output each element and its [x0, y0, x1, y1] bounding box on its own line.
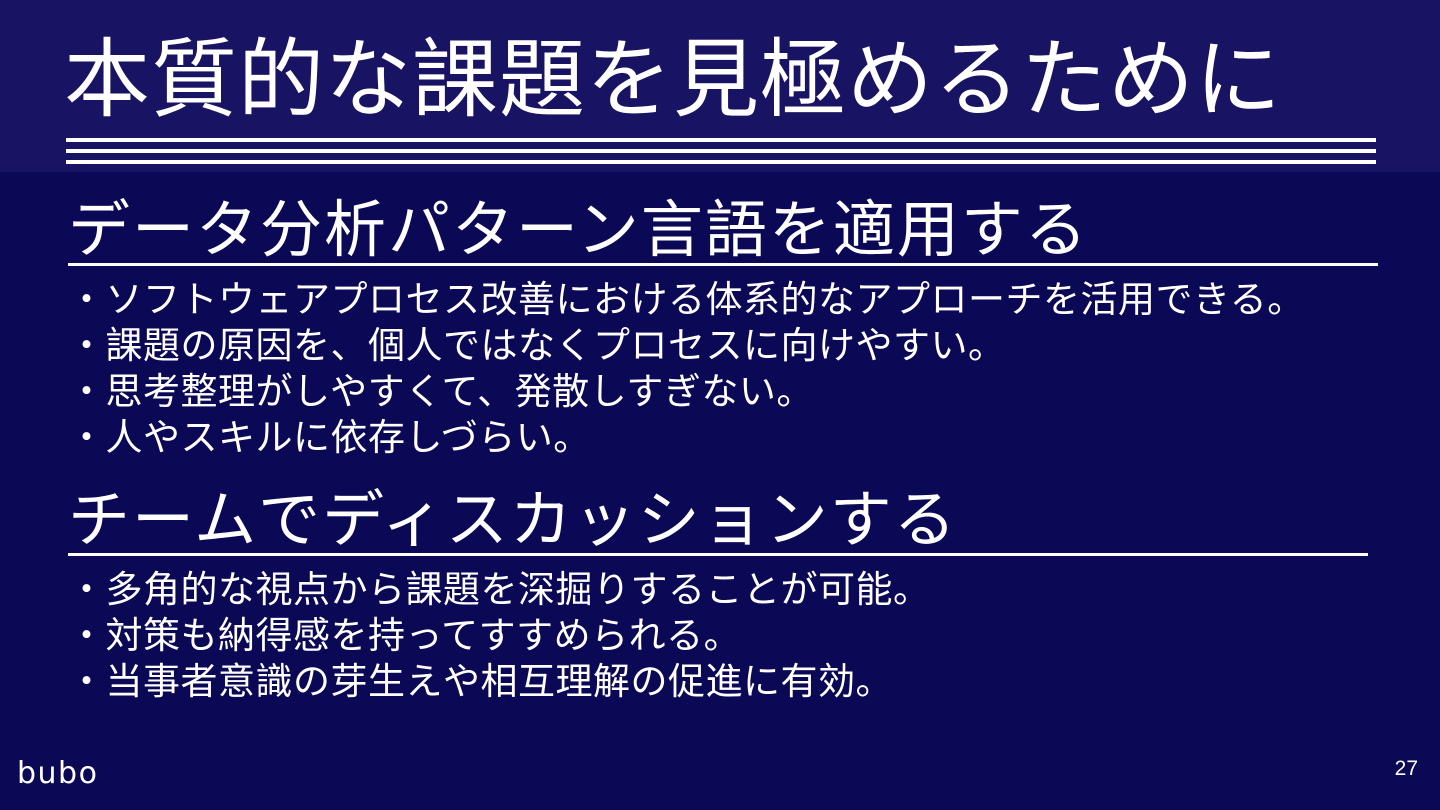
section-heading-underline [68, 553, 1368, 556]
section-heading-underline [68, 263, 1378, 266]
list-item: ・人やスキルに依存しづらい。 [68, 415, 1440, 461]
list-item: ・当事者意識の芽生えや相互理解の促進に有効。 [68, 659, 1440, 705]
page-title: 本質的な課題を見極めるために [64, 28, 1394, 132]
title-divider-line-1 [66, 138, 1376, 142]
brand-logo: bubo [17, 757, 98, 791]
section-data-analysis-pattern-language: データ分析パターン言語を適用する ・ソフトウェアプロセス改善における体系的なアプ… [0, 194, 1440, 461]
slide-root: 本質的な課題を見極めるために データ分析パターン言語を適用する ・ソフトウェアプ… [0, 0, 1440, 810]
list-item: ・課題の原因を、個人ではなくプロセスに向けやすい。 [68, 323, 1440, 369]
section-heading-text: チームでディスカッションする [68, 486, 958, 555]
page-number: 27 [1395, 757, 1418, 781]
list-item: ・ソフトウェアプロセス改善における体系的なアプローチを活用できる。 [68, 277, 1440, 323]
list-item: ・思考整理がしやすくて、発散しすぎない。 [68, 369, 1440, 415]
slide-body: データ分析パターン言語を適用する ・ソフトウェアプロセス改善における体系的なアプ… [0, 172, 1440, 732]
section-heading: データ分析パターン言語を適用する [68, 194, 1089, 268]
title-divider [66, 138, 1376, 164]
title-divider-line-3 [66, 160, 1376, 164]
section-team-discussion: チームでディスカッションする ・多角的な視点から課題を深掘りすることが可能。 ・… [0, 484, 1440, 705]
section-heading-text: データ分析パターン言語を適用する [68, 196, 1089, 265]
section-heading: チームでディスカッションする [68, 484, 958, 558]
title-divider-line-2 [66, 149, 1376, 153]
list-item: ・対策も納得感を持ってすすめられる。 [68, 613, 1440, 659]
bullet-list: ・多角的な視点から課題を深掘りすることが可能。 ・対策も納得感を持ってすすめられ… [0, 567, 1440, 705]
list-item: ・多角的な視点から課題を深掘りすることが可能。 [68, 567, 1440, 613]
bullet-list: ・ソフトウェアプロセス改善における体系的なアプローチを活用できる。 ・課題の原因… [0, 277, 1440, 461]
